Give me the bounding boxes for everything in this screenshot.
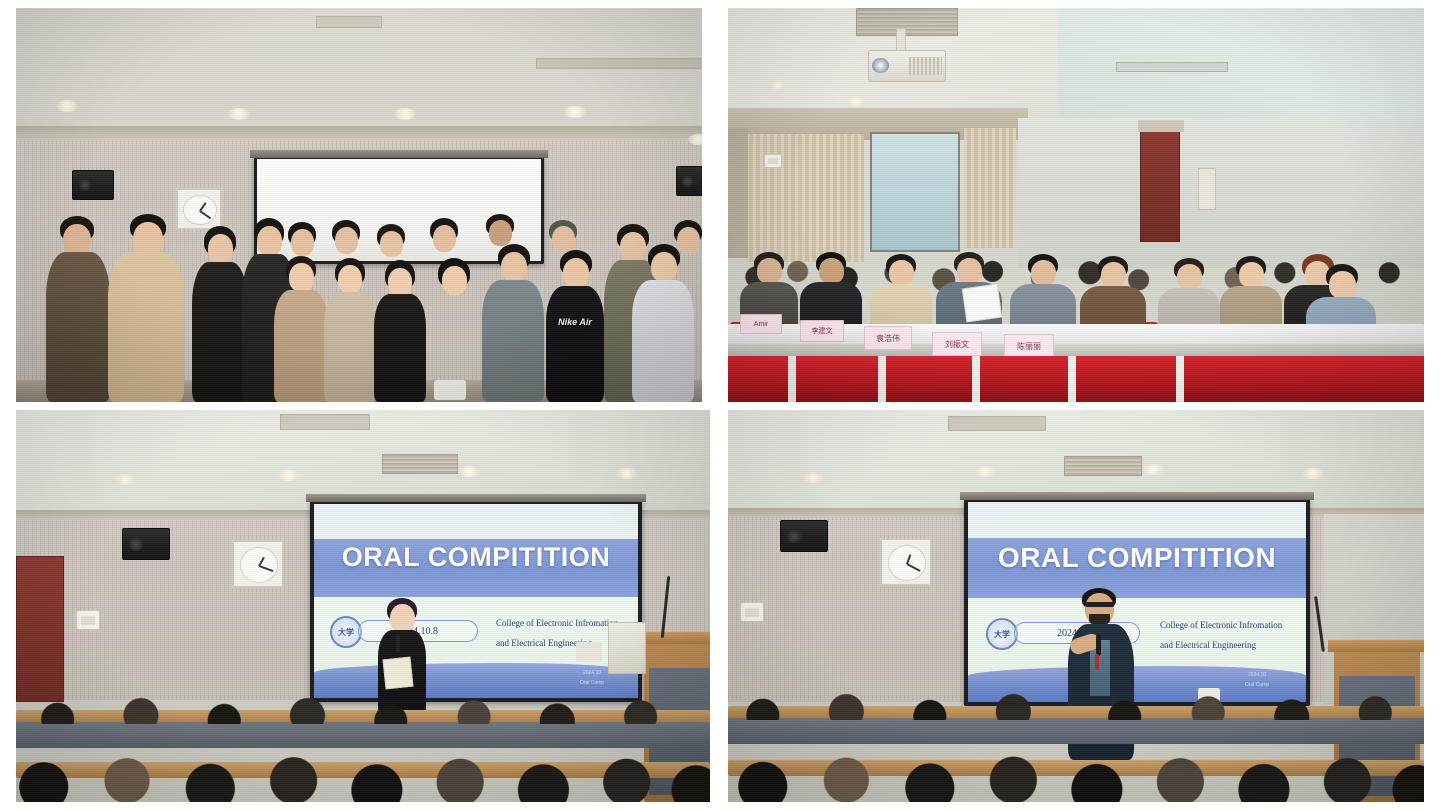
photo-top-right: Amir 李建文 袁浩伟 刘振文 陈丽丽	[728, 8, 1424, 402]
person	[476, 214, 524, 270]
photo-collage: Nike Air	[0, 0, 1440, 810]
clock-face	[888, 545, 926, 580]
screen-roller	[306, 494, 646, 502]
downlight	[616, 468, 638, 479]
eyeglasses-icon	[1085, 602, 1114, 607]
downlight	[974, 466, 996, 477]
trash-bin	[434, 380, 466, 400]
ceiling-seam	[536, 58, 702, 69]
wall-speaker	[122, 528, 170, 560]
name-placard: 李建文	[800, 320, 844, 342]
lectern-top	[1328, 640, 1424, 652]
slide-org-line1: College of Electronic Infromation	[496, 618, 618, 628]
name-placard: 袁浩伟	[864, 326, 912, 350]
person	[368, 224, 414, 280]
screen-roller	[960, 492, 1314, 500]
name-placard: Amir	[740, 314, 782, 334]
front-seat-backs	[728, 356, 1424, 402]
seat-divider	[972, 356, 980, 402]
downlight	[278, 470, 300, 481]
microphone-icon	[1096, 634, 1101, 656]
clock-face	[183, 195, 217, 226]
projector-vents	[909, 57, 942, 75]
downlight	[768, 80, 788, 90]
clock-face	[240, 547, 278, 582]
downlight	[846, 96, 866, 106]
downlight	[114, 474, 136, 485]
slide-title: ORAL COMPITITION	[314, 542, 638, 573]
downlight	[1142, 464, 1164, 475]
projector-lens	[872, 58, 889, 74]
person	[420, 218, 468, 276]
name-placard: 陈丽丽	[1004, 334, 1054, 358]
screen-roller	[250, 150, 548, 158]
slide-org-line1: College of Electronic Infromation	[1160, 620, 1282, 630]
slide-title: ORAL COMPITITION	[968, 542, 1306, 574]
person	[664, 220, 702, 278]
photo-bottom-right: 大学 ORAL COMPITITION 2024.10.8 College of…	[728, 410, 1424, 802]
seat-divider	[878, 356, 886, 402]
person	[374, 260, 426, 402]
downlight	[458, 466, 480, 477]
light-switch	[76, 610, 100, 630]
seat-divider	[1068, 356, 1076, 402]
photo-bottom-left: 大学 ORAL COMPITITION 2024.10.8 College of…	[16, 410, 710, 802]
slide-org-line2: and Electrical Engineering	[1160, 640, 1256, 650]
lectern-top	[638, 632, 710, 644]
downlight	[228, 108, 250, 120]
downlight	[564, 106, 586, 118]
wall-panel	[1198, 168, 1216, 210]
wall-speaker	[72, 170, 114, 200]
audience-mid	[16, 664, 710, 724]
nike-air-logo: Nike Air	[554, 316, 596, 328]
paper-sheet	[962, 284, 1002, 323]
ac-vent	[856, 8, 958, 36]
ceiling-panel	[280, 414, 370, 430]
person	[278, 222, 326, 282]
audience-mid	[728, 660, 1424, 720]
name-placard: 刘振文	[932, 332, 982, 356]
ceiling-panel	[316, 16, 382, 28]
wall-speaker	[780, 520, 828, 552]
light-switch	[764, 154, 782, 168]
ac-vent	[1064, 456, 1142, 476]
person	[192, 226, 248, 402]
ceiling-seam	[1116, 62, 1228, 72]
table-edge	[728, 344, 1424, 356]
downlight	[394, 108, 416, 120]
seat-divider	[788, 356, 796, 402]
audience-near	[16, 726, 710, 802]
door-header	[1138, 120, 1184, 132]
downlight	[688, 134, 702, 145]
downlight	[802, 472, 824, 483]
cup	[576, 642, 602, 662]
wall-clock	[880, 538, 932, 586]
door	[1140, 130, 1180, 242]
light-switch	[740, 602, 764, 622]
ceiling-projector	[868, 50, 946, 82]
microphone-icon	[396, 634, 400, 652]
seat-divider	[1176, 356, 1184, 402]
audience-near	[728, 724, 1424, 802]
downlight	[1302, 468, 1324, 479]
ac-vent	[382, 454, 458, 474]
photo-top-left: Nike Air	[16, 8, 702, 402]
person	[540, 220, 586, 274]
wall-cornice	[16, 126, 702, 140]
wall-clock	[232, 540, 284, 588]
ceiling-panel	[948, 416, 1046, 431]
clock-hand-minute	[200, 210, 211, 219]
person	[322, 220, 370, 278]
person	[108, 214, 184, 402]
person	[46, 216, 110, 402]
wall-speaker	[676, 166, 702, 196]
downlight	[56, 100, 78, 112]
